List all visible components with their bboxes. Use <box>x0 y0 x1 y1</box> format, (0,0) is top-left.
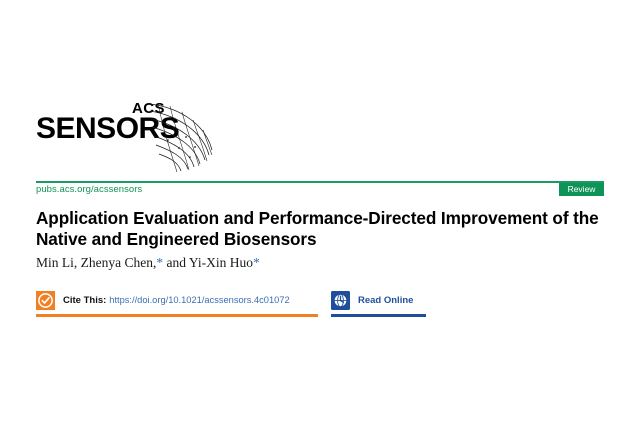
doi-link[interactable]: https://doi.org/10.1021/acssensors.4c010… <box>109 295 289 305</box>
acs-sensors-swoosh-icon <box>148 102 226 174</box>
orange-check-circle-icon <box>36 291 55 310</box>
corresponding-author-marker-2: * <box>253 255 260 270</box>
read-online-underline <box>331 314 426 317</box>
cite-this-row[interactable]: Cite This: https://doi.org/10.1021/acsse… <box>36 289 290 311</box>
journal-url[interactable]: pubs.acs.org/acssensors <box>36 184 142 196</box>
article-first-page: SENSORS ACS <box>0 0 640 432</box>
article-type-badge: Review <box>559 183 604 196</box>
author-list: Min Li, Zhenya Chen,* and Yi-Xin Huo* <box>36 254 608 271</box>
read-online-row[interactable]: Read Online <box>331 289 413 311</box>
journal-masthead: SENSORS ACS <box>36 100 206 172</box>
author-names: Min Li, Zhenya Chen, <box>36 255 156 270</box>
author-names-continued: and Yi-Xin Huo <box>163 255 253 270</box>
page-title: Application Evaluation and Performance-D… <box>36 208 608 249</box>
cite-this-block[interactable]: Cite This: https://doi.org/10.1021/acsse… <box>36 289 318 318</box>
read-online-label: Read Online <box>358 295 413 306</box>
blue-globe-icon <box>331 291 350 310</box>
read-online-block[interactable]: Read Online <box>331 289 426 318</box>
cite-this-label: Cite This: <box>63 295 106 306</box>
masthead-divider <box>36 181 604 183</box>
cite-this-underline <box>36 314 318 317</box>
